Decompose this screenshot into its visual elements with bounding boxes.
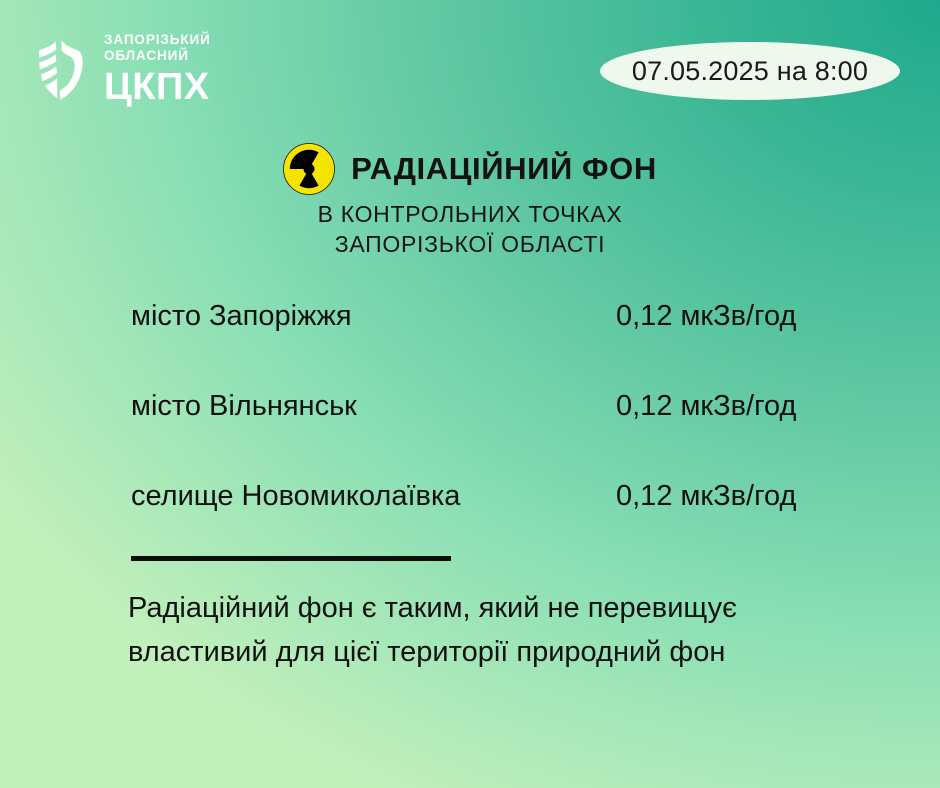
reading-place: місто Вільнянськ <box>131 390 616 423</box>
reading-place: місто Запоріжжя <box>131 300 616 333</box>
date-badge-text: 07.05.2025 на 8:00 <box>632 56 868 87</box>
date-badge: 07.05.2025 на 8:00 <box>600 42 900 100</box>
reading-row: місто Запоріжжя 0,12 мкЗв/год <box>131 300 861 390</box>
section-divider <box>131 556 451 561</box>
footer-note: Радіаційний фон є таким, який не перевищ… <box>128 586 888 674</box>
reading-value: 0,12 мкЗв/год <box>616 300 796 333</box>
footer-note-line-1: Радіаційний фон є таким, який не перевищ… <box>128 586 888 630</box>
reading-row: місто Вільнянськ 0,12 мкЗв/год <box>131 390 861 480</box>
radiation-trefoil-icon <box>283 143 335 195</box>
radiation-background-poster: ЗАПОРІЗЬКИЙ ОБЛАСНИЙ ЦКПХ 07.05.2025 на … <box>0 0 940 788</box>
heading-subtitle-line-2: ЗАПОРІЗЬКОЇ ОБЛАСТІ <box>0 229 940 259</box>
brand-acronym: ЦКПХ <box>104 68 211 107</box>
heading-block: РАДІАЦІЙНИЙ ФОН В КОНТРОЛЬНИХ ТОЧКАХ ЗАП… <box>0 143 940 260</box>
readings-list: місто Запоріжжя 0,12 мкЗв/год місто Віль… <box>131 300 861 570</box>
brand-line-2: ОБЛАСНИЙ <box>104 48 211 64</box>
reading-place: селище Новомиколаївка <box>131 480 616 513</box>
brand-line-1: ЗАПОРІЗЬКИЙ <box>104 32 211 48</box>
brand-logo-text: ЗАПОРІЗЬКИЙ ОБЛАСНИЙ ЦКПХ <box>104 30 211 107</box>
shield-logo-icon <box>28 32 92 104</box>
reading-value: 0,12 мкЗв/год <box>616 480 796 513</box>
page-title: РАДІАЦІЙНИЙ ФОН <box>351 151 657 187</box>
heading-title-row: РАДІАЦІЙНИЙ ФОН <box>0 143 940 195</box>
brand-logo: ЗАПОРІЗЬКИЙ ОБЛАСНИЙ ЦКПХ <box>28 30 211 107</box>
footer-note-line-2: властивий для цієї території природний ф… <box>128 630 888 674</box>
reading-value: 0,12 мкЗв/год <box>616 390 796 423</box>
heading-subtitle-line-1: В КОНТРОЛЬНИХ ТОЧКАХ <box>0 199 940 229</box>
